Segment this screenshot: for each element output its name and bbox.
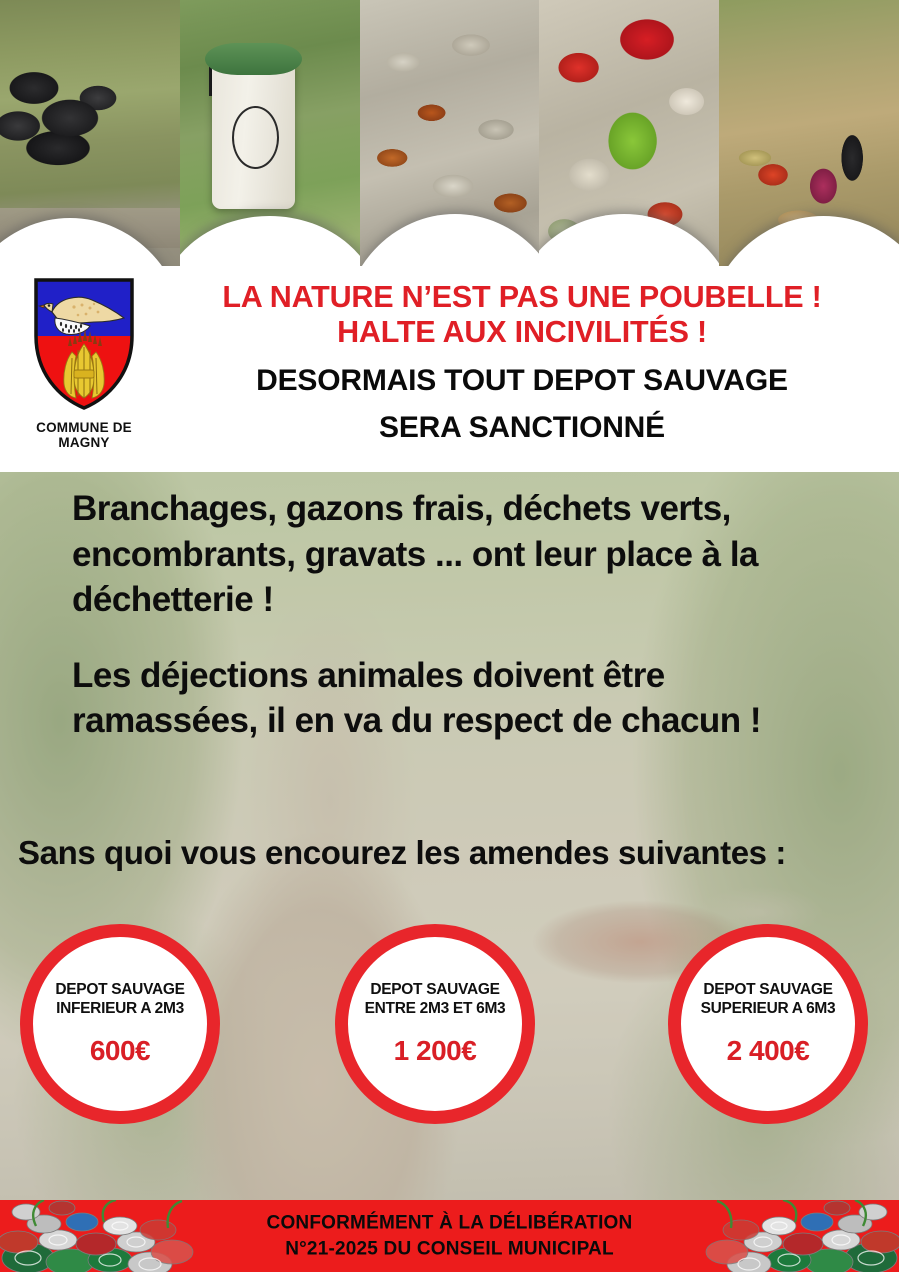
photo-rubble-image	[360, 0, 540, 282]
photo-white-bin-image	[180, 0, 360, 282]
poster-root: COMMUNE DE MAGNY LA NATURE N’EST PAS UNE…	[0, 0, 899, 1272]
header-band: COMMUNE DE MAGNY LA NATURE N’EST PAS UNE…	[0, 266, 899, 472]
fines-row: DEPOT SAUVAGE INFERIEUR A 2M3 600€ DEPOT…	[0, 924, 899, 1124]
fine-amount-2m3-to-6m3: 1 200€	[394, 1035, 477, 1067]
headline-block: LA NATURE N’EST PAS UNE POUBELLE ! HALTE…	[160, 280, 884, 446]
body-message-block: Branchages, gazons frais, déchets verts,…	[72, 486, 872, 744]
crest-caption: COMMUNE DE MAGNY	[14, 420, 154, 450]
collage-strip	[0, 0, 899, 282]
headline-black-line1: DESORMAIS TOUT DEPOT SAUVAGE	[160, 363, 884, 398]
photo-white-bin	[180, 0, 360, 282]
headline-black-line2: SERA SANCTIONNÉ	[160, 410, 884, 445]
body-background-photo: Branchages, gazons frais, déchets verts,…	[0, 472, 899, 1200]
fines-intro-text: Sans quoi vous encourez les amendes suiv…	[18, 834, 888, 872]
commune-crest-block: COMMUNE DE MAGNY	[14, 274, 154, 450]
fine-amount-over-6m3: 2 400€	[727, 1035, 810, 1067]
body-paragraph-waste: Branchages, gazons frais, déchets verts,…	[72, 486, 842, 623]
photo-rubble	[360, 0, 540, 282]
photo-bin-bags-verge	[0, 0, 180, 282]
headline-red-line2: HALTE AUX INCIVILITÉS !	[160, 315, 884, 350]
fine-label-under-2m3: DEPOT SAUVAGE INFERIEUR A 2M3	[55, 981, 184, 1019]
fine-amount-under-2m3: 600€	[90, 1035, 150, 1067]
crest-caption-line2: MAGNY	[14, 435, 154, 450]
coat-of-arms-icon	[28, 274, 140, 414]
public-bin-shape	[212, 62, 295, 209]
crushed-cans-right-icon	[694, 1200, 899, 1272]
photo-collage	[0, 0, 899, 282]
photo-bin-bags-verge-image	[0, 0, 180, 282]
photo-bulky-waste-image	[719, 0, 899, 282]
crest-caption-line1: COMMUNE DE	[14, 420, 154, 435]
fine-label-over-6m3: DEPOT SAUVAGE SUPERIEUR A 6M3	[701, 981, 836, 1019]
headline-red-line1: LA NATURE N’EST PAS UNE POUBELLE !	[160, 280, 884, 315]
photo-packaging-waste	[539, 0, 719, 282]
body-paragraph-dejections: Les déjections animales doivent être ram…	[72, 653, 792, 744]
fine-label-2m3-to-6m3: DEPOT SAUVAGE ENTRE 2M3 ET 6M3	[365, 981, 506, 1019]
fine-circle-over-6m3: DEPOT SAUVAGE SUPERIEUR A 6M3 2 400€	[668, 924, 868, 1124]
fine-circle-2m3-to-6m3: DEPOT SAUVAGE ENTRE 2M3 ET 6M3 1 200€	[335, 924, 535, 1124]
photo-packaging-waste-image	[539, 0, 719, 282]
footer-banner: CONFORMÉMENT À LA DÉLIBÉRATION N°21-2025…	[0, 1200, 899, 1272]
fine-circle-under-2m3: DEPOT SAUVAGE INFERIEUR A 2M3 600€	[20, 924, 220, 1124]
photo-bulky-waste	[719, 0, 899, 282]
